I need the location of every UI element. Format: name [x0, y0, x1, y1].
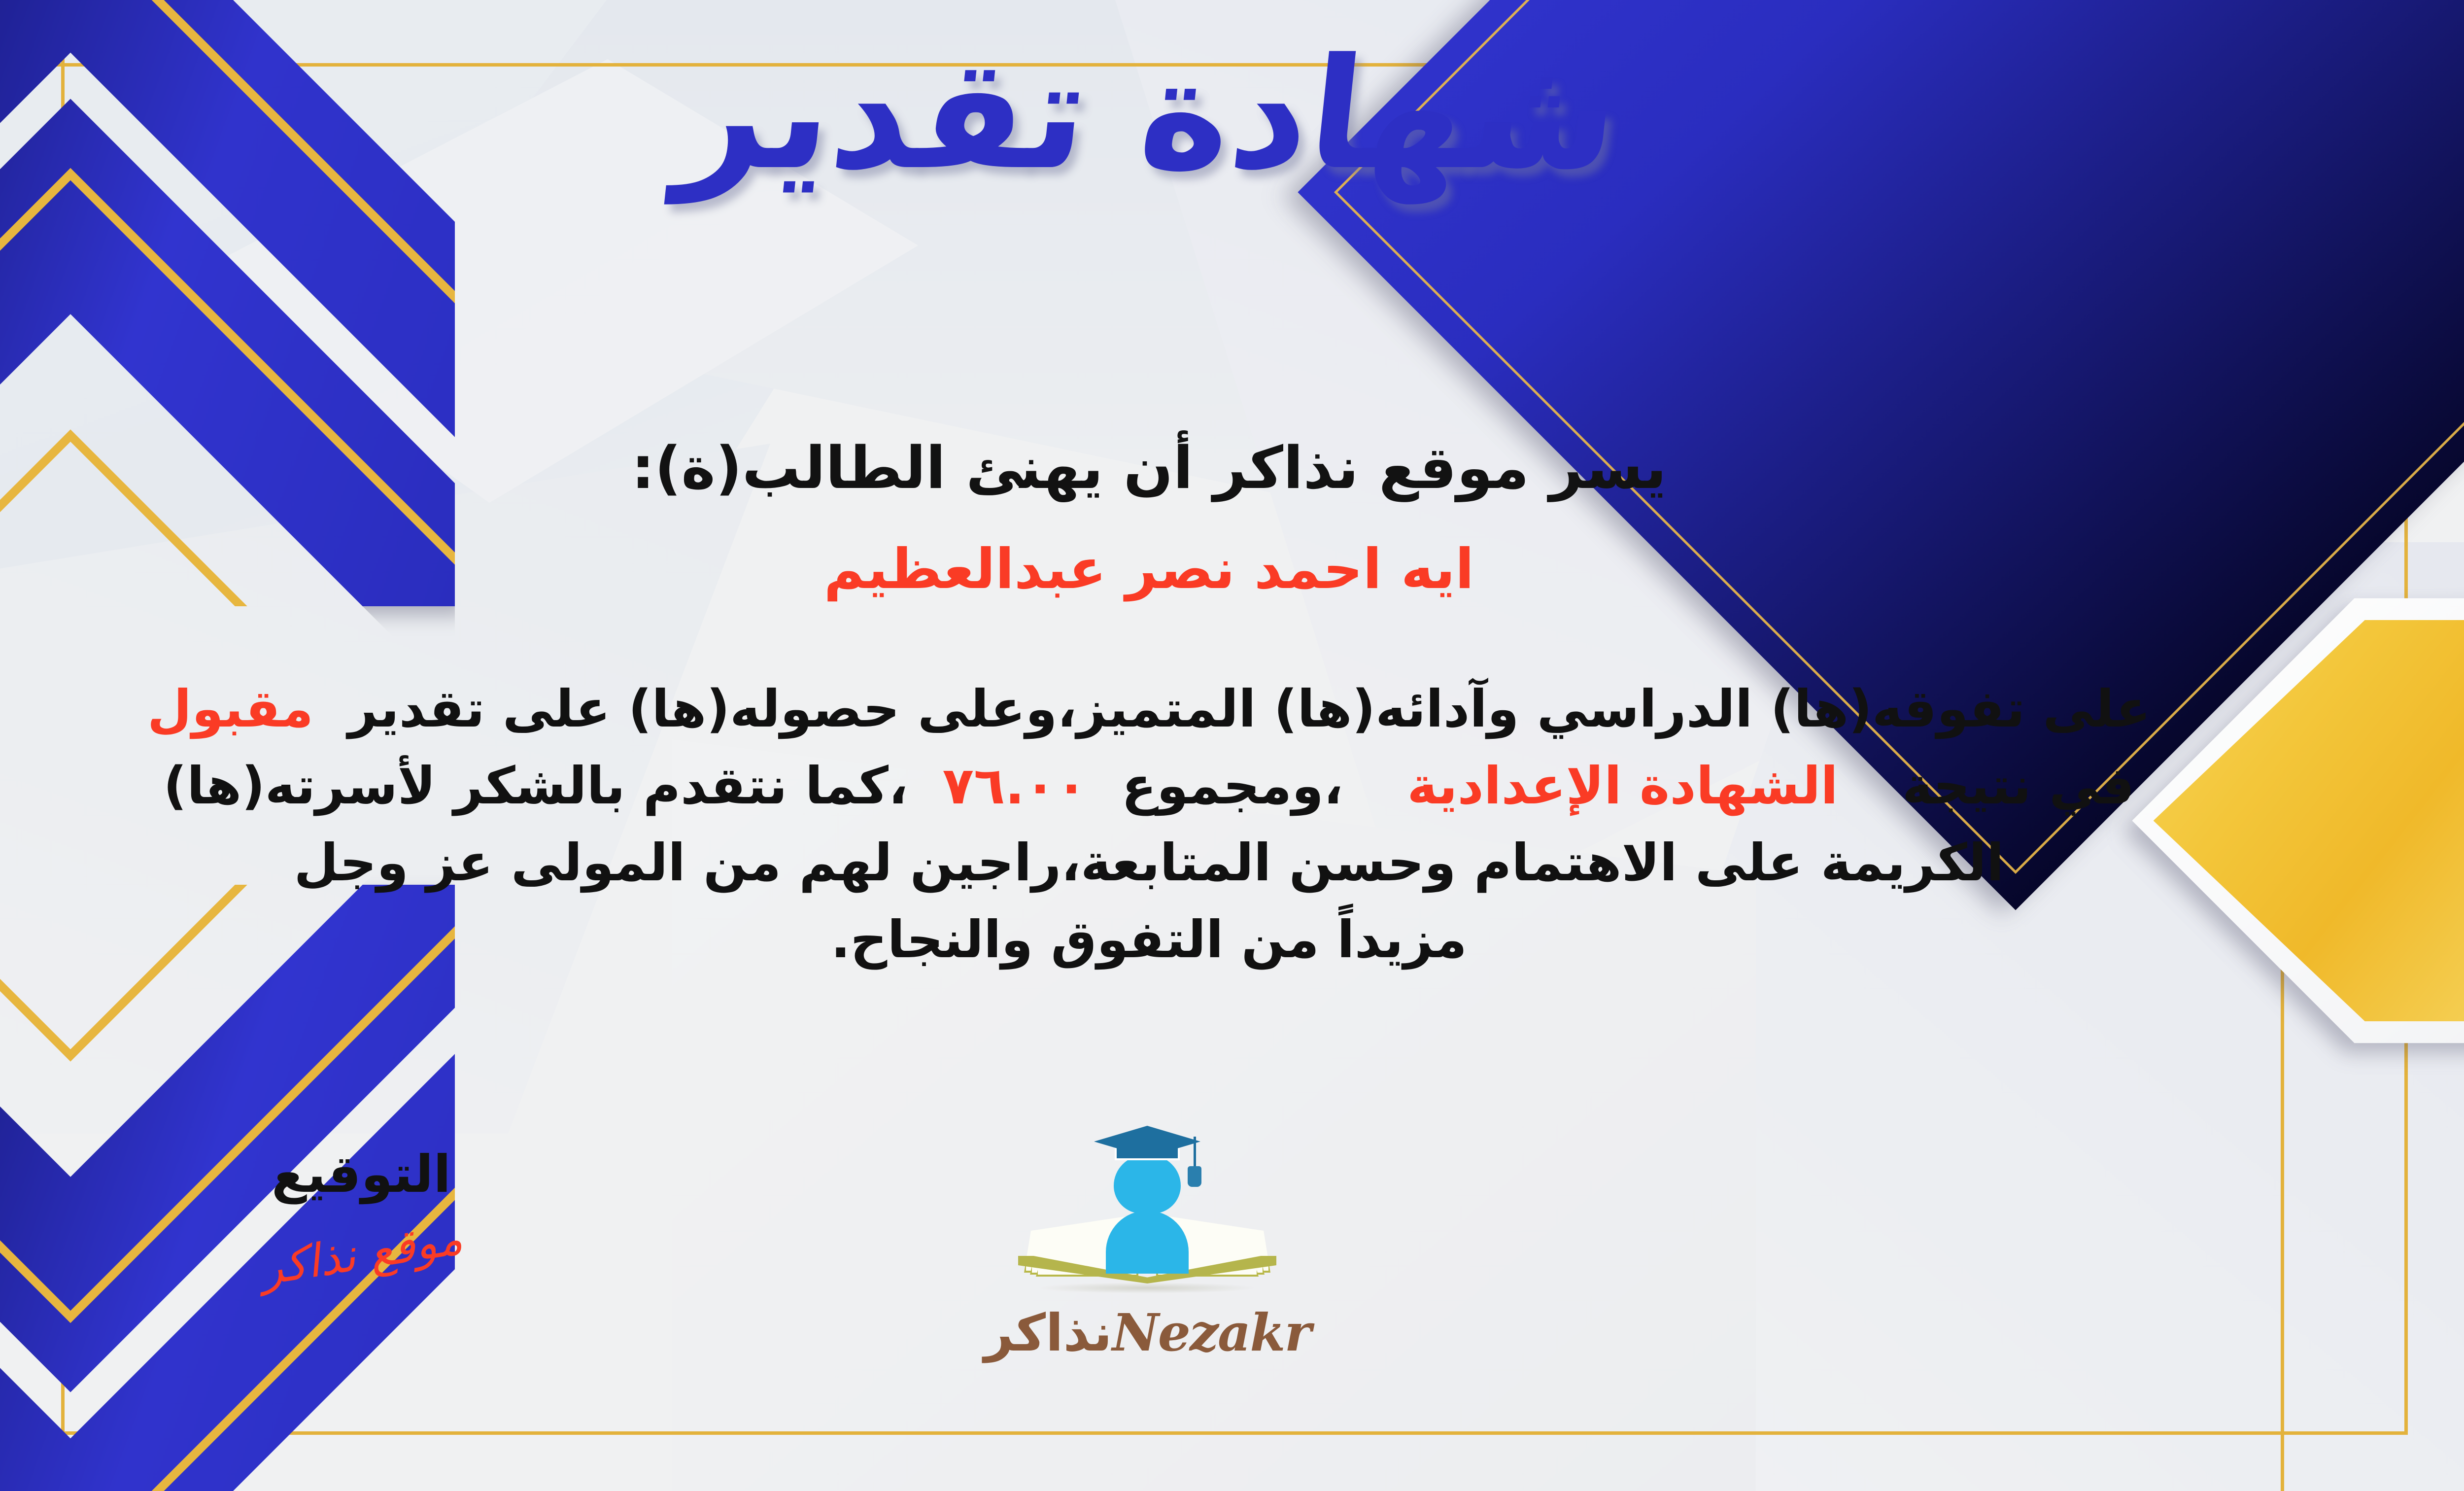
grade-value: مقبول — [147, 679, 313, 739]
cap-board — [1094, 1126, 1200, 1157]
total-score: ٧٦.٠٠ — [942, 756, 1087, 816]
graduation-cap-icon — [1106, 1124, 1189, 1155]
result-prefix: في نتيجة — [1902, 756, 2135, 816]
intro-line: يسر موقع نذاكر أن يهنئ الطالب(ة): — [0, 434, 2464, 502]
body-line-4: مزيداً من التفوق والنجاح. — [0, 901, 2336, 978]
certificate-title: شهادة تقدير — [0, 38, 2464, 191]
logo-latin-name: Nezakr — [1112, 1302, 1311, 1363]
body-line-1: على تفوقه(ها) الدراسي وآدائه(ها) المتميز… — [0, 670, 2336, 747]
signature-label: التوقيع — [208, 1148, 514, 1200]
thanks-text: ،كما نتقدم بالشكر لأسرته(ها) — [164, 756, 908, 816]
body-line-3: الكريمة على الاهتمام وحسن المتابعة،راجين… — [0, 824, 2336, 901]
certificate-canvas: شهادة تقدير يسر موقع نذاكر أن يهنئ الطال… — [0, 0, 2464, 1491]
body-paragraph: على تفوقه(ها) الدراسي وآدائه(ها) المتميز… — [0, 670, 2336, 978]
student-name: ايه احمد نصر عبدالعظيم — [0, 537, 2464, 601]
signature-mark: موقع نذاكر — [206, 1204, 516, 1304]
nezakr-logo: Nezakrنذاكر — [943, 1124, 1352, 1358]
student-head-icon — [1114, 1155, 1181, 1214]
certificate-content: شهادة تقدير يسر موقع نذاكر أن يهنئ الطال… — [0, 0, 2464, 1491]
book-shadow — [1041, 1283, 1254, 1293]
achievement-text: على تفوقه(ها) الدراسي وآدائه(ها) المتميز… — [348, 679, 2151, 739]
logo-illustration — [1009, 1124, 1285, 1301]
signature-block: التوقيع موقع نذاكر — [208, 1148, 514, 1280]
logo-wordmark: Nezakrنذاكر — [943, 1307, 1352, 1358]
body-line-2: في نتيجةالشهادة الإعدادية،ومجموع٧٦.٠٠،كم… — [0, 747, 2336, 824]
logo-arabic-name: نذاكر — [984, 1303, 1112, 1363]
certificate-name: الشهادة الإعدادية — [1407, 756, 1838, 816]
cap-tassel — [1194, 1137, 1196, 1167]
cap-tassel-end — [1188, 1166, 1201, 1187]
total-prefix: ،ومجموع — [1122, 756, 1343, 816]
